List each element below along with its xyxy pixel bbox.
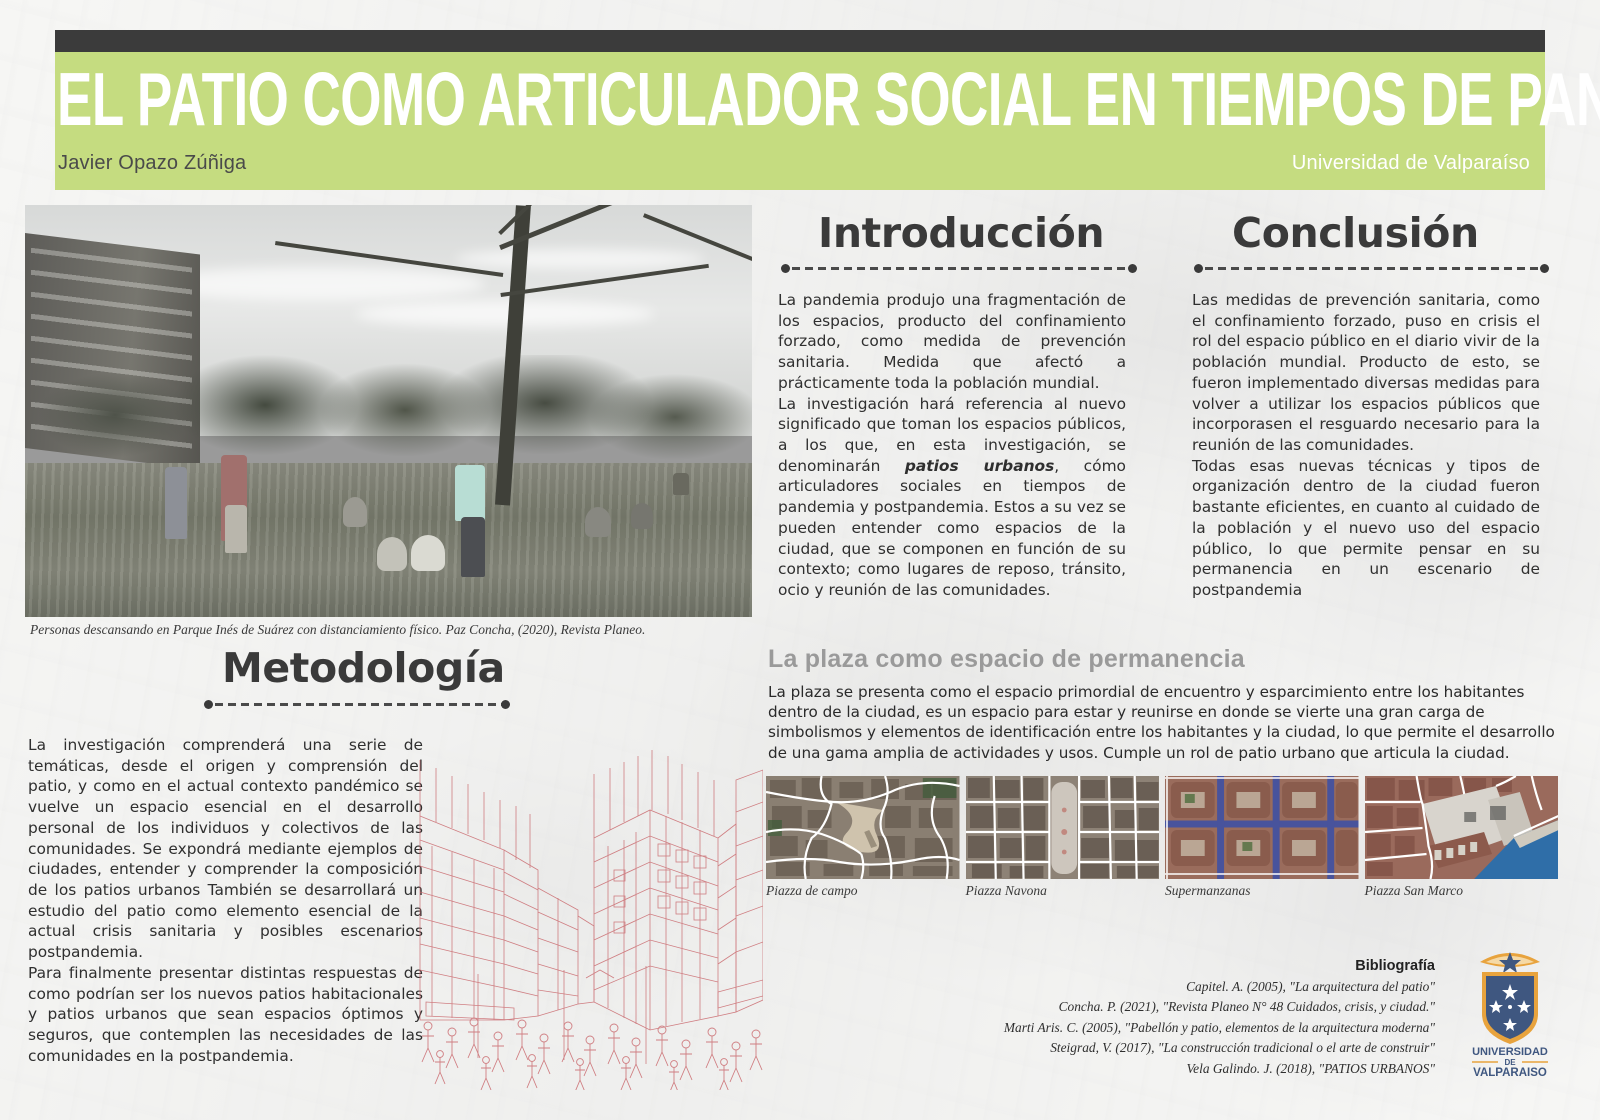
logo-graphic: UNIVERSIDAD DE VALPARAISO C H I L E: [1462, 938, 1558, 1078]
plaza-section-body: La plaza se presenta como el espacio pri…: [768, 682, 1558, 763]
metodologia-paragraph-1: La investigación comprenderá una serie d…: [28, 735, 423, 963]
aerial-map-piazza-san-marco: [1365, 776, 1559, 879]
poster-canvas: EL PATIO COMO ARTICULADOR SOCIAL EN TIEM…: [0, 0, 1600, 1120]
street-perspective-sketch: [418, 720, 763, 1090]
conclusion-body: Las medidas de prevención sanitaria, com…: [1192, 290, 1540, 601]
introduccion-p2-part-b: , cómo articuladores sociales en tiempos…: [778, 457, 1126, 599]
bibliography-entry: Capitel. A. (2005), "La arquitectura del…: [795, 977, 1435, 997]
photo-person: [411, 535, 445, 571]
rule-conclusion: [1205, 267, 1545, 270]
thumbnail-caption: Piazza San Marco: [1365, 883, 1559, 903]
rule-dot-right: [1128, 264, 1137, 273]
thumbnail-piazza-san-marco: [1365, 776, 1559, 879]
photo-person: [343, 497, 367, 527]
metodologia-paragraph-2: Para finalmente presentar distintas resp…: [28, 963, 423, 1067]
main-photograph: [25, 205, 752, 617]
photo-person: [225, 505, 247, 553]
plaza-thumbnail-row: [766, 776, 1558, 879]
photo-person: [585, 507, 611, 537]
thumbnail-caption: Supermanzanas: [1165, 883, 1359, 903]
photo-cloud: [455, 249, 705, 269]
section-heading-conclusion: Conclusión: [1232, 213, 1479, 254]
rule-dot-right: [1540, 264, 1549, 273]
conclusion-heading-text: Conclusión: [1232, 213, 1479, 254]
logo-line-de: DE: [1504, 1058, 1516, 1067]
aerial-map-piazza-de-campo: [766, 776, 960, 879]
sketch-drawing: [418, 720, 763, 1090]
page-title: EL PATIO COMO ARTICULADOR SOCIAL EN TIEM…: [57, 62, 1600, 137]
metodologia-heading-text: Metodología: [222, 648, 505, 689]
rule-dot-left: [204, 700, 213, 709]
rule-dot-right: [501, 700, 510, 709]
photo-person: [673, 473, 689, 495]
author-name: Javier Opazo Zúñiga: [58, 152, 246, 175]
conclusion-paragraph-2: Todas esas nuevas técnicas y tipos de or…: [1192, 456, 1540, 601]
introduccion-body: La pandemia produjo una fragmentación de…: [778, 290, 1126, 601]
introduccion-paragraph-2: La investigación hará referencia al nuev…: [778, 394, 1126, 601]
rule-metodologia: [215, 703, 505, 706]
plaza-section-heading: La plaza como espacio de permanencia: [768, 645, 1245, 674]
logo-line-universidad: UNIVERSIDAD: [1472, 1046, 1548, 1058]
bibliography-entry: Steigrad, V. (2017), "La construcción tr…: [795, 1038, 1435, 1058]
plaza-thumbnail-captions: Piazza de campo Piazza Navona Supermanza…: [766, 883, 1558, 903]
bibliography-entry: Vela Galindo. J. (2018), "PATIOS URBANOS…: [795, 1059, 1435, 1079]
section-heading-introduccion: Introducción: [818, 213, 1104, 254]
thumbnail-caption: Piazza de campo: [766, 883, 960, 903]
thumbnail-supermanzanas: [1165, 776, 1359, 879]
photo-person: [631, 503, 653, 529]
introduccion-heading-text: Introducción: [818, 213, 1104, 254]
photo-person: [377, 537, 407, 571]
header-topbar: [55, 30, 1545, 52]
rule-dot-left: [781, 264, 790, 273]
introduccion-emphasis-patios-urbanos: patios urbanos: [905, 457, 1054, 475]
section-heading-metodologia: Metodología: [222, 648, 505, 689]
bibliography-entry: Marti Aris. C. (2005), "Pabellón y patio…: [795, 1018, 1435, 1038]
thumbnail-caption: Piazza Navona: [966, 883, 1160, 903]
aerial-map-supermanzanas: [1165, 776, 1359, 879]
photo-person: [165, 467, 187, 539]
introduccion-paragraph-1: La pandemia produjo una fragmentación de…: [778, 290, 1126, 394]
university-logo: UNIVERSIDAD DE VALPARAISO C H I L E: [1462, 938, 1558, 1078]
rule-dot-left: [1194, 264, 1203, 273]
conclusion-paragraph-1: Las medidas de prevención sanitaria, com…: [1192, 290, 1540, 456]
photo-person: [461, 517, 485, 577]
aerial-map-piazza-navona: [966, 776, 1160, 879]
thumbnail-piazza-de-campo: [766, 776, 960, 879]
bibliography-entry: Concha. P. (2021), "Revista Planeo N° 48…: [795, 997, 1435, 1017]
bibliography-title: Bibliografía: [795, 955, 1435, 977]
metodologia-body: La investigación comprenderá una serie d…: [28, 735, 423, 1067]
bibliography: Bibliografía Capitel. A. (2005), "La arq…: [795, 955, 1435, 1079]
thumbnail-piazza-navona: [966, 776, 1160, 879]
logo-line-valparaiso: VALPARAISO: [1473, 1067, 1547, 1078]
photo-caption: Personas descansando en Parque Inés de S…: [30, 622, 750, 638]
rule-introduccion: [792, 267, 1132, 270]
affiliation-label: Universidad de Valparaíso: [1292, 152, 1530, 175]
photo-person: [455, 465, 485, 521]
photo-cloud: [355, 301, 655, 327]
